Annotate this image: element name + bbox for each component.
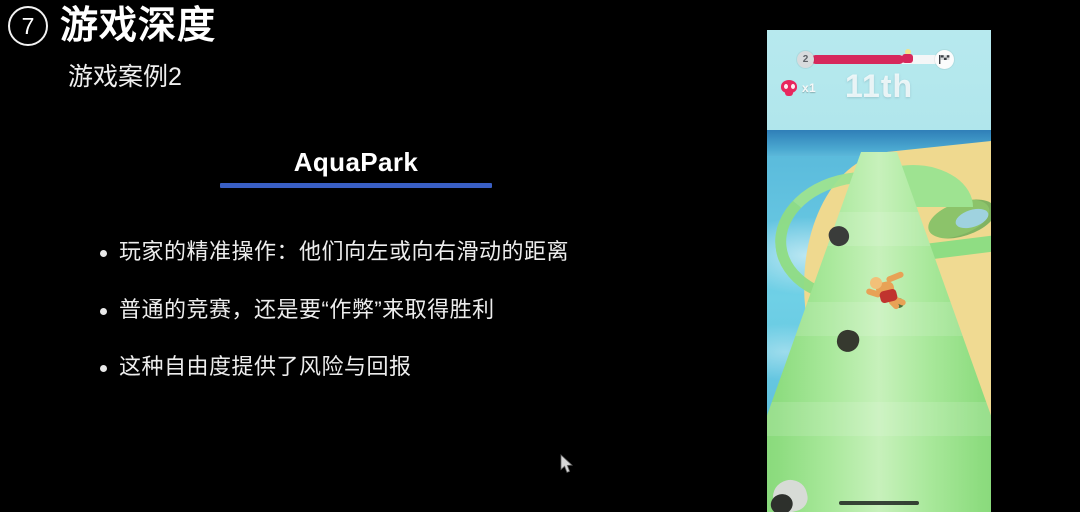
player-character (862, 270, 908, 308)
list-item: 这种自由度提供了风险与回报 (100, 353, 720, 381)
mouse-pointer-icon (560, 454, 574, 474)
section-heading-block: AquaPark (220, 148, 492, 188)
bullet-dot-icon (100, 250, 107, 257)
presentation-slide: 7 游戏深度 游戏案例2 AquaPark 玩家的精准操作：他们向左或向右滑动的… (0, 0, 1080, 512)
scene-sky (767, 30, 991, 135)
slide-band (767, 402, 991, 436)
bullet-text: 普通的竞赛，还是要“作弊”来取得胜利 (119, 296, 495, 324)
bullet-list: 玩家的精准操作：他们向左或向右滑动的距离 普通的竞赛，还是要“作弊”来取得胜利 … (100, 238, 720, 411)
section-underline (220, 183, 492, 188)
game-scene (767, 30, 991, 512)
slide-header: 7 游戏深度 (8, 6, 216, 46)
game-screenshot-phone: 2 (767, 30, 991, 512)
bullet-text: 这种自由度提供了风险与回报 (119, 353, 412, 381)
page-title: 游戏深度 (60, 7, 216, 45)
bullet-dot-icon (100, 308, 107, 315)
list-item: 普通的竞赛，还是要“作弊”来取得胜利 (100, 296, 720, 324)
section-title: AquaPark (220, 148, 492, 177)
page-subtitle: 游戏案例2 (68, 62, 182, 92)
slide-number-badge: 7 (8, 6, 48, 46)
bullet-dot-icon (100, 365, 107, 372)
list-item: 玩家的精准操作：他们向左或向右滑动的距离 (100, 238, 720, 266)
bullet-text: 玩家的精准操作：他们向左或向右滑动的距离 (119, 238, 569, 266)
